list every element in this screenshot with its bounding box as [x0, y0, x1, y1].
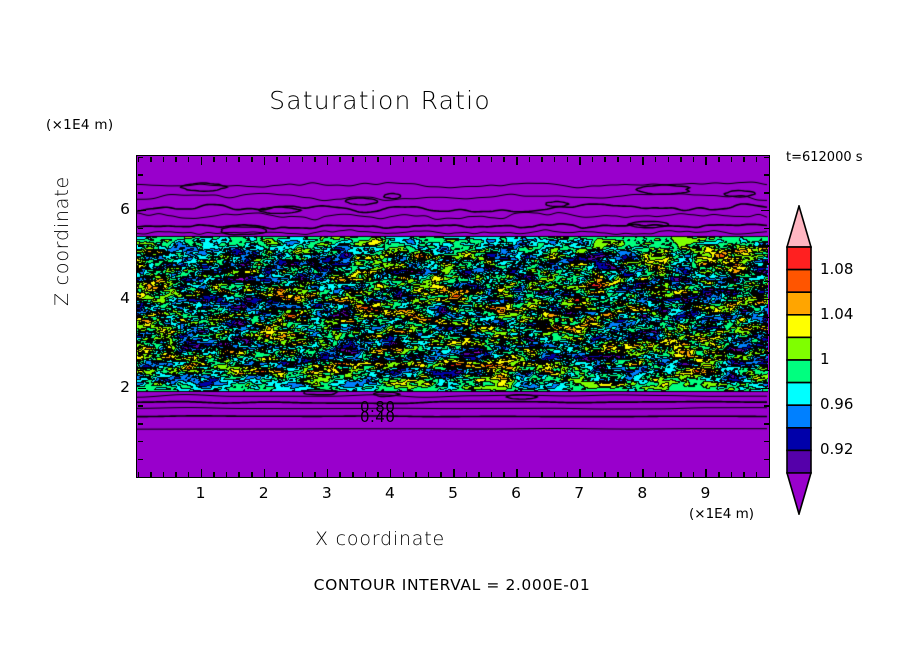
colorbar-band [787, 450, 811, 473]
x-axis-minor-tick-top [403, 157, 405, 162]
y-axis-minor-tick [138, 192, 143, 194]
y-axis-minor-tick-right [764, 228, 769, 230]
x-axis-minor-tick [756, 472, 758, 477]
x-axis-minor-tick [617, 472, 619, 477]
y-axis-minor-tick [138, 281, 143, 283]
colorbar-tick-label: 1 [820, 350, 830, 368]
y-axis-minor-tick-right [764, 157, 769, 159]
y-axis-minor-tick [138, 157, 143, 159]
x-axis-minor-tick-top [617, 157, 619, 162]
contour-interval-note: CONTOUR INTERVAL = 2.000E-01 [0, 576, 904, 594]
y-axis-minor-tick [138, 405, 143, 407]
x-axis-major-tick [705, 469, 707, 477]
x-axis-minor-tick [163, 472, 165, 477]
x-axis-minor-tick-top [428, 157, 430, 162]
x-axis-minor-tick-top [251, 157, 253, 162]
y-axis-minor-tick-right [764, 423, 769, 425]
x-axis-minor-tick [403, 472, 405, 477]
x-axis-minor-tick-top [188, 157, 190, 162]
y-axis-minor-tick-right [764, 477, 769, 479]
x-axis-minor-tick-top [440, 157, 442, 162]
x-axis-minor-tick [769, 472, 771, 477]
x-axis-minor-tick-top [238, 157, 240, 162]
x-axis-minor-tick [238, 472, 240, 477]
x-axis-minor-tick-top [377, 157, 379, 162]
x-axis-tick-label: 3 [312, 484, 342, 502]
y-axis-minor-tick-right [764, 405, 769, 407]
y-axis-major-tick [138, 299, 146, 301]
x-axis-minor-tick-top [567, 157, 569, 162]
x-axis-minor-tick [668, 472, 670, 477]
x-axis-major-tick-top [642, 157, 644, 165]
colorbar-over-arrow [787, 206, 811, 247]
x-axis-minor-tick [365, 472, 367, 477]
x-axis-minor-tick-top [655, 157, 657, 162]
x-axis-minor-tick-top [604, 157, 606, 162]
x-axis-minor-tick [415, 472, 417, 477]
x-axis-minor-tick-top [339, 157, 341, 162]
x-axis-major-tick-top [453, 157, 455, 165]
y-axis-tick-label: 6 [100, 200, 130, 218]
x-axis-minor-tick [491, 472, 493, 477]
y-axis-minor-tick [138, 352, 143, 354]
y-axis-minor-tick-right [764, 281, 769, 283]
x-axis-major-tick-top [264, 157, 266, 165]
x-axis-minor-tick [276, 472, 278, 477]
x-axis-minor-tick-top [769, 157, 771, 162]
colorbar-svg [786, 205, 812, 515]
x-axis-minor-tick-top [693, 157, 695, 162]
x-axis-minor-tick-top [302, 157, 304, 162]
x-axis-minor-tick-top [503, 157, 505, 162]
x-axis-tick-label: 2 [249, 484, 279, 502]
x-axis-minor-tick-top [276, 157, 278, 162]
colorbar[interactable] [786, 205, 812, 515]
x-axis-tick-label: 4 [375, 484, 405, 502]
y-axis-minor-tick [138, 174, 143, 176]
x-axis-major-tick [579, 469, 581, 477]
x-axis-minor-tick-top [150, 157, 152, 162]
x-axis-minor-tick-top [352, 157, 354, 162]
x-axis-minor-tick [478, 472, 480, 477]
y-axis-minor-tick [138, 228, 143, 230]
time-annotation: t=612000 s [786, 150, 863, 165]
x-axis-minor-tick [503, 472, 505, 477]
x-axis-major-tick-top [516, 157, 518, 165]
y-axis-minor-tick-right [764, 352, 769, 354]
colorbar-tick-label: 0.92 [820, 440, 853, 458]
x-axis-minor-tick [428, 472, 430, 477]
x-axis-minor-tick [743, 472, 745, 477]
x-axis-tick-label: 1 [186, 484, 216, 502]
x-axis-minor-tick-top [541, 157, 543, 162]
x-axis-minor-tick [466, 472, 468, 477]
colorbar-band [787, 383, 811, 406]
x-axis-minor-tick [718, 472, 720, 477]
x-axis-minor-tick-top [529, 157, 531, 162]
colorbar-tick-label: 1.08 [820, 260, 853, 278]
x-axis-minor-tick-top [365, 157, 367, 162]
y-axis-title: Z coordinate [51, 151, 73, 331]
x-axis-minor-tick-top [592, 157, 594, 162]
x-axis-major-tick [642, 469, 644, 477]
x-axis-minor-tick-top [478, 157, 480, 162]
y-axis-minor-tick-right [764, 263, 769, 265]
x-axis-minor-tick [352, 472, 354, 477]
y-axis-minor-tick-right [764, 441, 769, 443]
x-axis-minor-tick-top [163, 157, 165, 162]
x-axis-minor-tick [541, 472, 543, 477]
x-axis-minor-tick-top [743, 157, 745, 162]
x-axis-minor-tick [529, 472, 531, 477]
y-axis-minor-tick [138, 370, 143, 372]
y-axis-minor-tick-right [764, 245, 769, 247]
saturation-ratio-field [137, 156, 768, 476]
x-axis-minor-tick-top [213, 157, 215, 162]
x-axis-major-tick [201, 469, 203, 477]
x-axis-tick-label: 6 [501, 484, 531, 502]
x-axis-minor-tick [567, 472, 569, 477]
y-axis-major-tick [138, 388, 146, 390]
x-axis-major-tick [327, 469, 329, 477]
y-axis-minor-tick [138, 245, 143, 247]
x-axis-major-tick-top [390, 157, 392, 165]
x-axis-minor-tick-top [491, 157, 493, 162]
x-axis-minor-tick [339, 472, 341, 477]
x-axis-minor-tick [592, 472, 594, 477]
x-axis-major-tick-top [705, 157, 707, 165]
y-axis-minor-tick [138, 441, 143, 443]
y-axis-major-tick [138, 210, 146, 212]
x-axis-minor-tick [251, 472, 253, 477]
y-axis-minor-tick [138, 459, 143, 461]
y-axis-minor-tick [138, 477, 143, 479]
x-axis-minor-tick [680, 472, 682, 477]
x-axis-minor-tick [604, 472, 606, 477]
y-axis-tick-label: 4 [100, 289, 130, 307]
y-axis-minor-tick [138, 317, 143, 319]
colorbar-band [787, 428, 811, 451]
x-axis-minor-tick-top [314, 157, 316, 162]
x-axis-minor-tick [731, 472, 733, 477]
x-axis-minor-tick [655, 472, 657, 477]
x-axis-minor-tick [213, 472, 215, 477]
x-axis-minor-tick [302, 472, 304, 477]
y-axis-minor-tick [138, 263, 143, 265]
x-axis-minor-tick-top [415, 157, 417, 162]
y-axis-major-tick-right [761, 210, 769, 212]
colorbar-band [787, 405, 811, 428]
x-axis-minor-tick-top [718, 157, 720, 162]
y-axis-minor-tick-right [764, 459, 769, 461]
x-axis-tick-label: 5 [438, 484, 468, 502]
x-axis-minor-tick [554, 472, 556, 477]
y-axis-major-tick-right [761, 388, 769, 390]
contour-plot-area[interactable] [136, 155, 770, 478]
x-axis-major-tick [516, 469, 518, 477]
x-axis-minor-tick-top [668, 157, 670, 162]
colorbar-band [787, 247, 811, 270]
colorbar-tick-label: 1.04 [820, 305, 853, 323]
x-axis-major-tick-top [579, 157, 581, 165]
x-axis-minor-tick [377, 472, 379, 477]
x-axis-minor-tick [175, 472, 177, 477]
page-title: Saturation Ratio [0, 86, 760, 115]
x-axis-minor-tick-top [466, 157, 468, 162]
x-axis-tick-label: 7 [564, 484, 594, 502]
colorbar-band [787, 315, 811, 338]
y-axis-minor-tick-right [764, 370, 769, 372]
y-axis-minor-tick-right [764, 174, 769, 176]
x-axis-major-tick [264, 469, 266, 477]
x-axis-minor-tick [289, 472, 291, 477]
y-axis-minor-tick [138, 423, 143, 425]
x-axis-minor-tick-top [756, 157, 758, 162]
y-axis-minor-tick-right [764, 317, 769, 319]
x-axis-tick-label: 9 [690, 484, 720, 502]
colorbar-under-arrow [787, 473, 811, 514]
x-axis-minor-tick-top [554, 157, 556, 162]
x-axis-minor-tick [440, 472, 442, 477]
x-axis-major-tick-top [201, 157, 203, 165]
x-axis-minor-tick-top [226, 157, 228, 162]
x-axis-major-tick [453, 469, 455, 477]
y-axis-major-tick-right [761, 299, 769, 301]
x-axis-minor-tick-top [630, 157, 632, 162]
colorbar-band [787, 292, 811, 315]
x-axis-minor-tick [188, 472, 190, 477]
y-axis-tick-label: 2 [100, 378, 130, 396]
x-axis-minor-tick-top [731, 157, 733, 162]
colorbar-band [787, 360, 811, 383]
x-axis-minor-tick-top [289, 157, 291, 162]
x-axis-tick-label: 8 [627, 484, 657, 502]
x-axis-minor-tick [314, 472, 316, 477]
x-axis-major-tick [390, 469, 392, 477]
colorbar-band [787, 337, 811, 360]
y-axis-minor-tick [138, 334, 143, 336]
x-axis-minor-tick [226, 472, 228, 477]
x-axis-minor-tick-top [680, 157, 682, 162]
colorbar-band [787, 270, 811, 293]
x-axis-minor-tick [630, 472, 632, 477]
y-axis-minor-tick-right [764, 334, 769, 336]
y-axis-minor-tick-right [764, 192, 769, 194]
x-axis-minor-tick-top [175, 157, 177, 162]
x-axis-minor-tick [150, 472, 152, 477]
colorbar-tick-label: 0.96 [820, 395, 853, 413]
x-axis-major-tick-top [327, 157, 329, 165]
x-axis-minor-tick [693, 472, 695, 477]
x-axis-unit-label: (×1E4 m) [689, 506, 754, 522]
x-axis-title: X coordinate [0, 528, 760, 550]
y-axis-unit-label: (×1E4 m) [46, 117, 113, 133]
